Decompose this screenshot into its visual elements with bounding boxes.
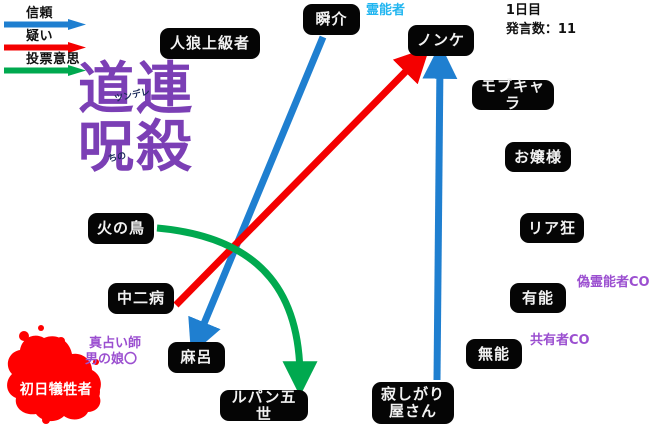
node-chuunibyou[interactable]: 中二病 — [108, 283, 174, 314]
tag-nise-reinou: 偽霊能者CO — [577, 275, 650, 292]
node-yuunou[interactable]: 有能 — [510, 283, 566, 313]
legend-item-suspicion: 疑い — [4, 27, 90, 50]
node-shunsuke[interactable]: 瞬介 — [303, 4, 360, 35]
edge-sabishigariya-to-nonke — [437, 62, 440, 380]
tag-shin-uranaishi: 真占い師 — [89, 336, 141, 353]
node-munou[interactable]: 無能 — [466, 339, 522, 369]
werewolf-relationship-diagram: 信頼 疑い 投票意思 道連 ツンデレ 呪殺 ちの — [0, 0, 660, 426]
title-line-2: 呪殺 — [78, 120, 194, 176]
node-ria-kyou[interactable]: リア狂 — [520, 213, 584, 243]
tag-kyouyuusha: 共有者CO — [530, 333, 590, 350]
node-jinro-joukyuusha[interactable]: 人狼上級者 — [160, 28, 260, 59]
tag-otokonoko: 男の娘〇 — [85, 352, 137, 369]
legend-arrow-vote-intent — [4, 65, 88, 76]
tag-reinousha: 霊能者 — [366, 3, 405, 20]
victim-label: 初日犠牲者 — [4, 379, 108, 399]
node-mob-chara[interactable]: モブキャラ — [472, 80, 554, 110]
day-number: 1日目 — [506, 2, 576, 21]
node-sabishigariya[interactable]: 寂しがり屋さん — [372, 382, 454, 424]
diagram-title: 道連 ツンデレ 呪殺 ちの — [78, 62, 288, 192]
node-hi-no-tori[interactable]: 火の鳥 — [88, 213, 154, 244]
node-maro[interactable]: 麻呂 — [168, 342, 225, 373]
node-lupin-gosei[interactable]: ルパン五世 — [220, 390, 308, 421]
day-info: 1日目 発言数：11 — [506, 2, 576, 40]
node-ojousama[interactable]: お嬢様 — [505, 142, 571, 172]
legend-item-trust: 信頼 — [4, 4, 90, 27]
speech-count: 発言数：11 — [506, 21, 576, 40]
node-nonke[interactable]: ノンケ — [408, 25, 474, 56]
